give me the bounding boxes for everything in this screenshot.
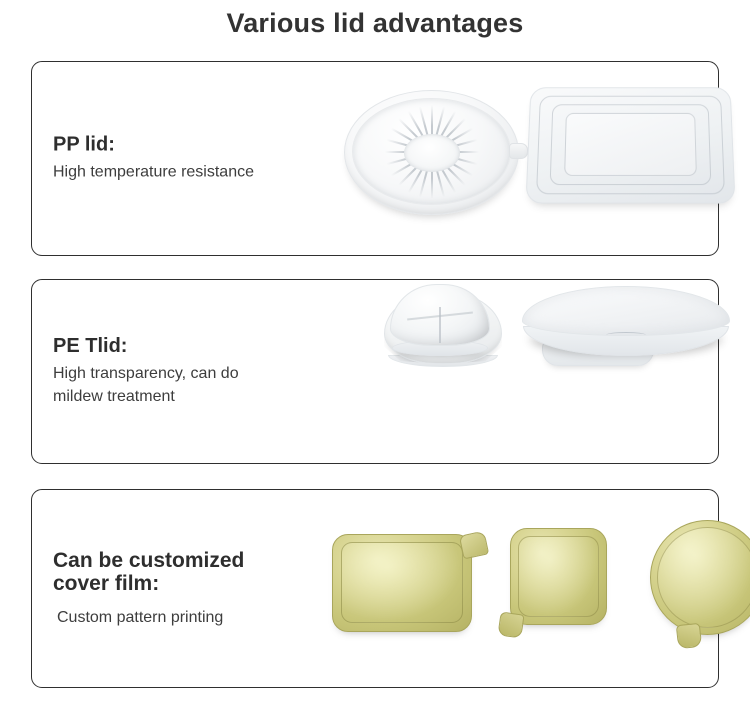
rectangular-pp-lid-image [525, 87, 735, 203]
gold-square-pull-tab [497, 611, 524, 638]
panel-cover-film: Can be customized cover film: Custom pat… [31, 489, 719, 688]
page-title: Various lid advantages [0, 8, 750, 39]
gold-rect-inner-rim [341, 542, 463, 623]
oval-pet-lid-image [522, 286, 730, 356]
gold-foil-square-lid-image [510, 528, 607, 625]
panel-cover-film-text: Can be customized cover film: Custom pat… [53, 548, 353, 628]
pet-oval-notch [606, 332, 646, 338]
gold-foil-rectangular-lid-image [332, 534, 472, 632]
pp-rect-rib-inner [564, 113, 697, 176]
pet-dome-cap [390, 284, 490, 346]
round-dome-pet-lid-image [390, 284, 490, 356]
panel-cover-film-heading: Can be customized cover film: [53, 548, 353, 595]
gold-rect-pull-tab [459, 531, 489, 560]
gold-circle-pull-tab [676, 623, 702, 649]
panel-pp-lid: PP lid: High temperature resistance [31, 61, 719, 256]
panel-pe-lid-text: PE Tlid: High transparency, can do milde… [53, 335, 353, 409]
panel-pp-lid-description: High temperature resistance [53, 161, 353, 184]
panel-pp-lid-images [332, 62, 718, 255]
panel-cover-film-description: Custom pattern printing [53, 600, 353, 628]
panel-cover-film-images [332, 490, 718, 687]
panel-pe-lid: PE Tlid: High transparency, can do milde… [31, 279, 719, 464]
pet-oval-top [522, 286, 730, 336]
gold-square-inner-rim [518, 536, 599, 617]
pp-lid-center-disc [404, 134, 460, 172]
gold-foil-round-lid-image [650, 520, 750, 635]
pet-dome-seam-vertical [439, 307, 441, 343]
panel-pe-lid-heading: PE Tlid: [53, 335, 353, 357]
round-ribbed-pp-lid-image [344, 90, 519, 215]
gold-circle-inner-rim [657, 527, 750, 628]
panel-pp-lid-text: PP lid: High temperature resistance [53, 133, 353, 184]
panel-pe-lid-images [332, 280, 718, 463]
pp-lid-pull-tab [509, 143, 528, 159]
panel-pp-lid-heading: PP lid: [53, 133, 353, 155]
panel-pe-lid-description: High transparency, can do mildew treatme… [53, 362, 353, 408]
